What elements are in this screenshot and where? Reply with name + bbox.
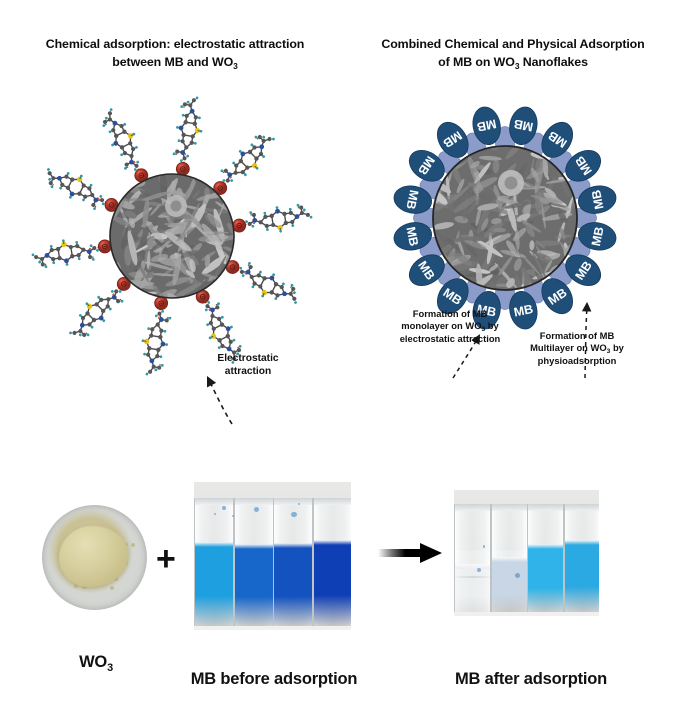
right-panel-title-line1: Combined Chemical and Physical Adsorptio… [381,37,644,51]
electrostatic-leader-line [208,378,232,424]
methylene-blue-molecule [232,258,304,312]
powder-speck [121,553,122,554]
mb-after-caption: MB after adsorption [436,670,626,689]
cuvette-liquid [274,548,312,626]
cuvette-liquid [314,545,351,625]
multilayer-annotation-line3: physioadsorption [538,355,617,366]
powder-speck [124,561,128,565]
cuvette-meniscus [235,544,273,549]
bubble [222,506,226,510]
methylene-blue-molecule [30,234,100,271]
powder-speck [101,540,103,542]
cuvette-liquid [528,549,563,612]
methylene-blue-molecule [96,104,150,176]
cuvette [273,498,313,625]
cuvette [491,504,528,612]
cuvette-rim [455,504,490,511]
cuvette-meniscus [492,557,527,562]
multilayer-annotation: Formation of MB Multilayer on WO3 by phy… [512,330,642,367]
cuvette-rim [314,498,351,505]
left-panel-title-line1: Chemical adsorption: electrostatic attra… [46,37,305,51]
right-panel-title: Combined Chemical and Physical Adsorptio… [358,36,668,72]
petri-dish [42,505,147,610]
cuvette-liquid [565,545,599,612]
cuvette-meniscus [274,543,312,548]
wo3-powder-photo [42,505,147,610]
powder-speck [115,542,118,545]
negative-charge-site [155,297,168,310]
powder-speck [92,572,95,575]
negative-charge-site [98,240,111,253]
negative-charge-site [233,219,246,232]
powder-speck [65,545,69,549]
powder-speck [114,577,118,581]
monolayer-annotation-line3: electrostatic attraction [400,333,501,344]
methylene-blue-molecule [136,307,173,378]
cuvette-rim [235,498,273,505]
powder-speck [111,568,113,570]
cuvette [194,498,234,625]
powder-speck [82,584,86,588]
electrostatic-annotation-line2: attraction [225,366,271,377]
electrostatic-annotation-line1: Electrostatic [217,353,278,364]
multilayer-annotation-line1: Formation of MB [540,330,614,341]
methylene-blue-molecule [40,159,112,213]
left-panel-title-line2: between MB and WO3 [112,55,237,69]
right-panel-title-line2: of MB on WO3 Nanoflakes [438,55,588,69]
powder-speck [118,546,120,548]
powder-speck [66,572,68,574]
bubble [291,512,297,518]
powder-speck [110,586,114,590]
cuvette [564,504,599,612]
left-diagram-svg [0,78,345,398]
mb-after-photo [454,490,599,616]
cuvette [234,498,274,625]
mb-before-caption: MB before adsorption [168,670,380,689]
monolayer-annotation: Formation of MB monolayer on WO3 by elec… [388,308,512,345]
cuvette-rim [565,504,599,511]
experimental-photo-strip: + WO3 MB before adsorption MB after adso… [0,470,685,723]
cuvette-liquid [492,562,527,612]
monolayer-annotation-line1: Formation of MB [413,308,487,319]
cuvette-meniscus [195,542,233,547]
chemical-adsorption-diagram [0,78,345,398]
cuvette-meniscus [565,540,599,545]
cuvette-meniscus [455,564,490,569]
powder-speck [104,577,108,581]
bubble [254,507,259,512]
powder-speck [74,584,78,588]
negative-charge-site [176,162,189,175]
powder-speck [64,551,65,552]
wo3-caption: WO3 [40,653,152,672]
powder-speck [107,545,109,547]
cuvette-liquid [455,569,490,612]
powder-speck [116,560,119,563]
cuvette-rim [528,504,563,511]
cuvette [313,498,351,625]
powder-speck [131,543,135,547]
cuvette-liquid [235,549,273,625]
powder-speck [92,547,96,551]
cuvette-rim [195,498,233,505]
powder-speck [78,538,81,541]
cuvette-rim [274,498,312,505]
cuvette-meniscus [314,540,351,545]
powder-speck [62,570,64,572]
powder-speck [121,553,123,555]
plus-operator: + [156,542,176,576]
powder-speck [75,537,79,541]
cuvette [527,504,564,612]
methylene-blue-molecule [244,201,314,238]
cuvette [454,504,491,612]
left-panel-title: Chemical adsorption: electrostatic attra… [20,36,330,72]
methylene-blue-molecule [171,94,208,165]
powder-speck [78,558,81,561]
monolayer-annotation-line2: monolayer on WO3 by [401,320,498,331]
multilayer-annotation-line2: Multilayer on WO3 by [530,342,624,353]
powder-speck [100,544,104,548]
cuvette-meniscus [528,544,563,549]
cuvette-liquid [195,547,233,626]
mb-before-photo [194,482,351,630]
powder-speck [125,543,128,546]
adsorption-process-arrow [378,540,442,566]
cuvette-rim [492,504,527,511]
electrostatic-attraction-annotation: Electrostatic attraction [188,352,308,379]
